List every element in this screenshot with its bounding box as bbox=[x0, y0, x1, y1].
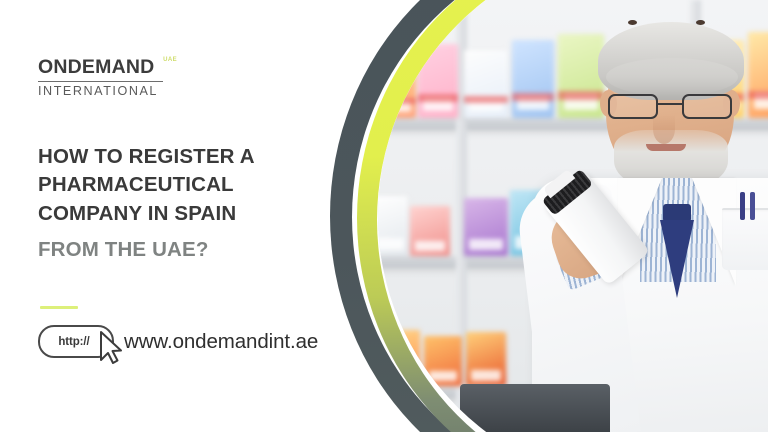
left-content-panel: ONDEMAND UAE INTERNATIONAL HOW TO REGIST… bbox=[0, 0, 360, 432]
logo-subtitle: INTERNATIONAL bbox=[38, 84, 163, 98]
accent-underline bbox=[40, 306, 78, 309]
pharmacist-photo bbox=[378, 0, 768, 432]
brand-logo[interactable]: ONDEMAND UAE INTERNATIONAL bbox=[38, 58, 163, 98]
website-url-text[interactable]: www.ondemandint.ae bbox=[124, 329, 318, 356]
logo-uae-superscript: UAE bbox=[163, 57, 177, 63]
pharmacist-figure bbox=[510, 10, 768, 432]
logo-main-text: ONDEMAND bbox=[38, 56, 154, 78]
headline-line-2: PHARMACEUTICAL bbox=[38, 171, 338, 199]
photo-stage bbox=[330, 0, 768, 432]
logo-wordmark: ONDEMAND UAE bbox=[38, 58, 163, 78]
headline-line-4: FROM THE UAE? bbox=[38, 237, 338, 264]
eyeglasses-icon bbox=[602, 94, 740, 120]
coat-pocket bbox=[722, 208, 768, 270]
protocol-label: http:// bbox=[58, 336, 89, 348]
photo-circle-mask bbox=[378, 0, 768, 432]
mouse-pointer-icon bbox=[98, 330, 124, 366]
thumbnail-canvas: ONDEMAND UAE INTERNATIONAL HOW TO REGIST… bbox=[0, 0, 768, 432]
pharmacist-hand bbox=[544, 200, 625, 284]
headline-line-1: HOW TO REGISTER A bbox=[38, 143, 338, 171]
counter-front bbox=[460, 384, 610, 432]
pharmacist-hair bbox=[598, 22, 744, 100]
page-title: HOW TO REGISTER A PHARMACEUTICAL COMPANY… bbox=[38, 143, 338, 263]
logo-divider bbox=[38, 81, 163, 82]
headline-line-3: COMPANY IN SPAIN bbox=[38, 200, 338, 228]
